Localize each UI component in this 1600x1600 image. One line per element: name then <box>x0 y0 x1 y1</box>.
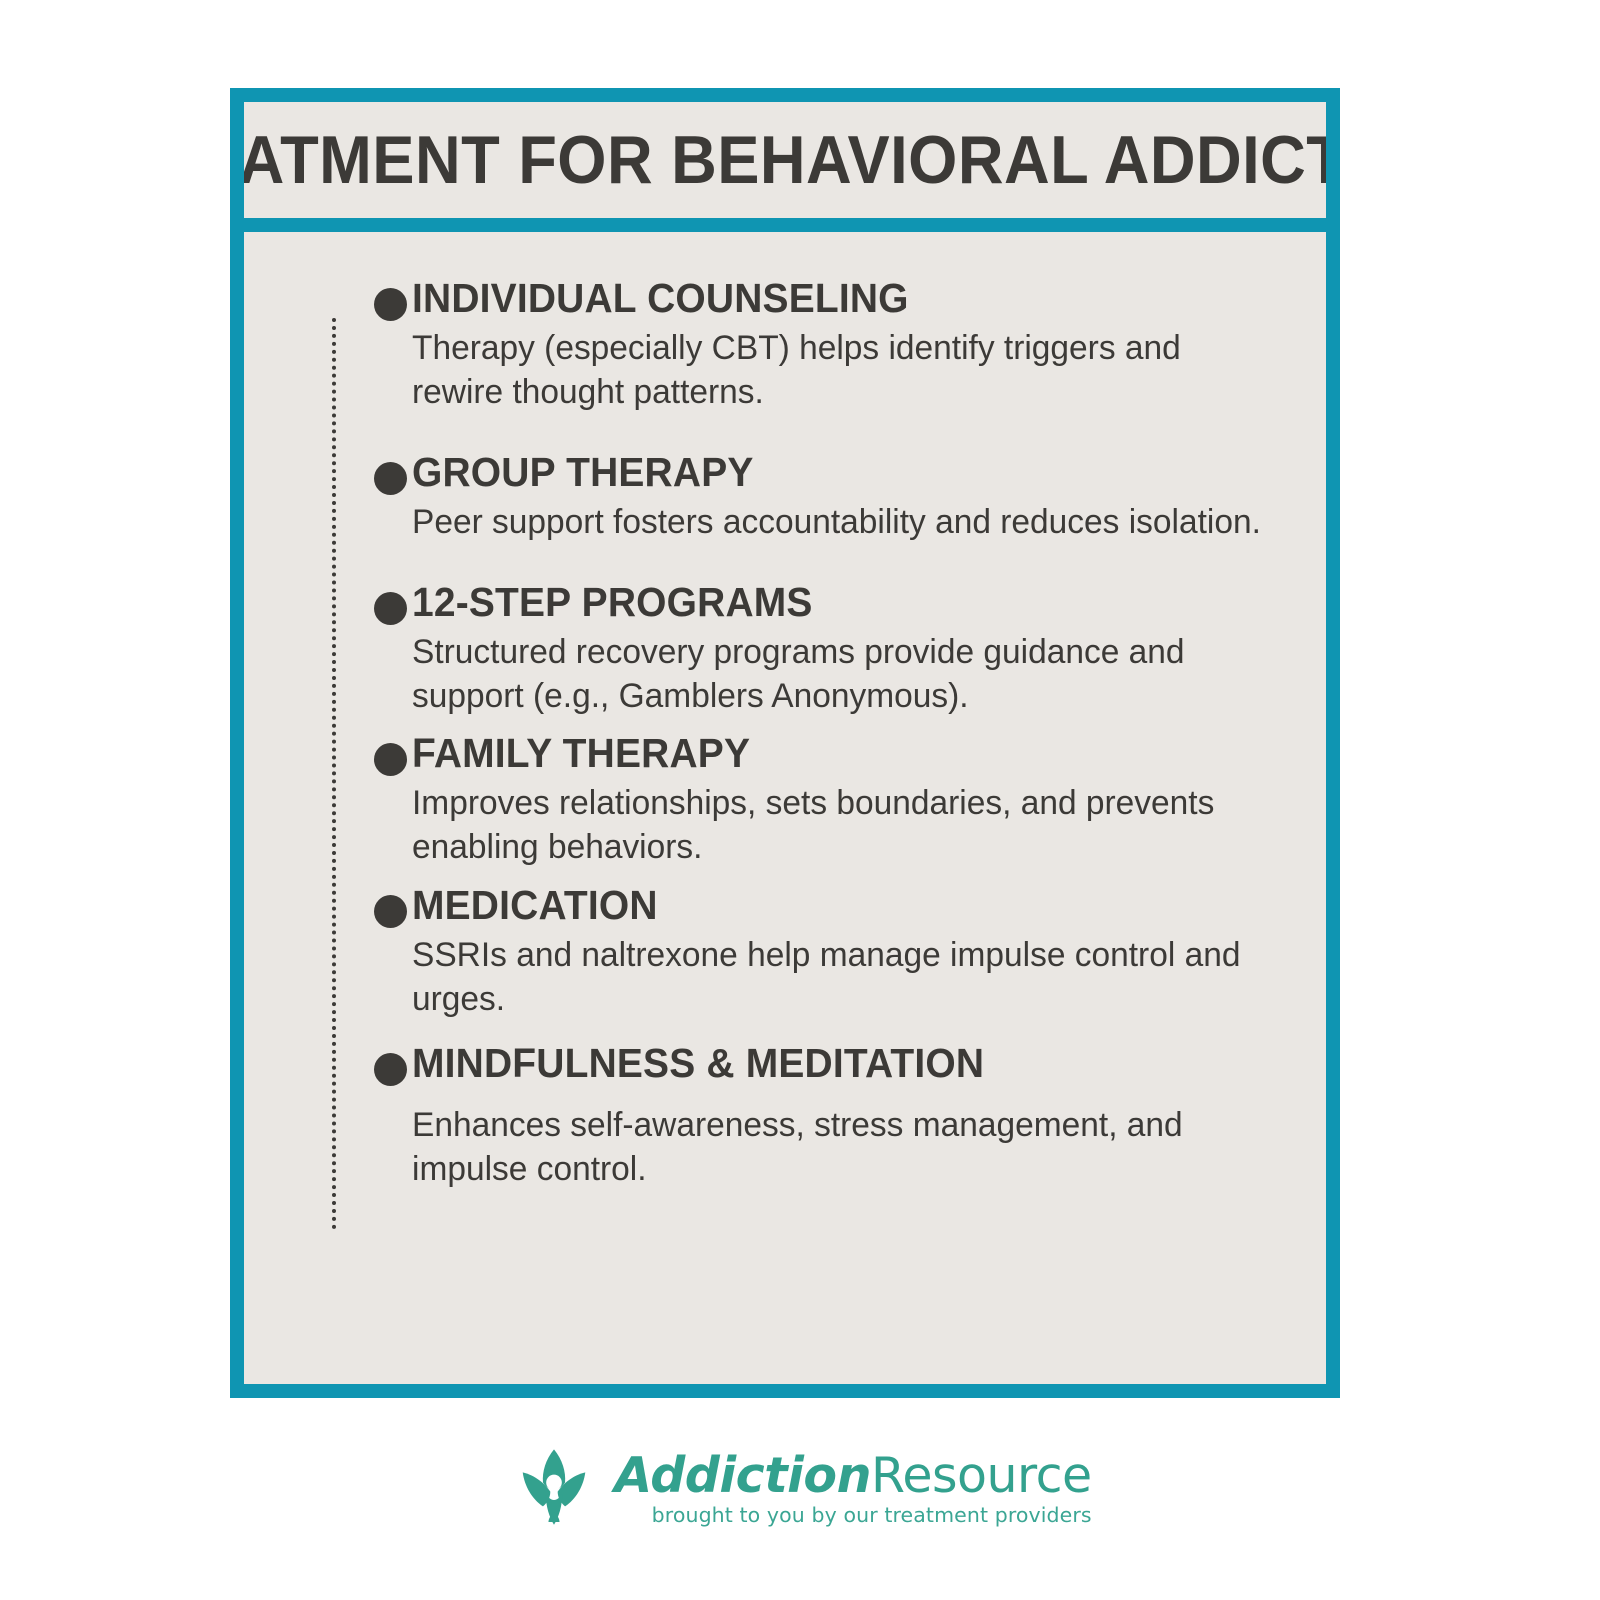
treatment-timeline: INDIVIDUAL COUNSELING Therapy (especiall… <box>244 232 1326 1384</box>
bullet-dot-icon <box>374 592 407 625</box>
list-item-description: Enhances self-awareness, stress manageme… <box>412 1103 1279 1191</box>
footer-branding: AddictionResource brought to you by our … <box>0 1442 1600 1534</box>
list-item-title: MINDFULNESS & MEDITATION <box>412 1041 1248 1087</box>
bullet-dot-icon <box>374 288 407 321</box>
list-item-description: Improves relationships, sets boundaries,… <box>412 781 1279 869</box>
bullet-dot-icon <box>374 743 407 776</box>
list-item: 12-STEP PROGRAMS Structured recovery pro… <box>302 580 1292 718</box>
list-item: MEDICATION SSRIs and naltrexone help man… <box>302 883 1292 1021</box>
list-item-description: SSRIs and naltrexone help manage impulse… <box>412 933 1279 1021</box>
page-title: TREATMENT FOR BEHAVIORAL ADDICTION <box>244 126 1326 194</box>
list-item: GROUP THERAPY Peer support fosters accou… <box>302 450 1292 544</box>
header-divider <box>244 218 1326 232</box>
list-item-title: GROUP THERAPY <box>412 450 1248 496</box>
list-item-title: INDIVIDUAL COUNSELING <box>412 276 1248 322</box>
list-item-title: 12-STEP PROGRAMS <box>412 580 1248 626</box>
logo-text-block: AddictionResource brought to you by our … <box>614 1450 1091 1526</box>
logo-tagline: brought to you by our treatment provider… <box>652 1505 1092 1526</box>
bullet-dot-icon <box>374 1053 407 1086</box>
list-item-description: Peer support fosters accountability and … <box>412 500 1279 544</box>
list-item: INDIVIDUAL COUNSELING Therapy (especiall… <box>302 276 1292 414</box>
list-item-description: Therapy (especially CBT) helps identify … <box>412 326 1279 414</box>
logo[interactable]: AddictionResource brought to you by our … <box>508 1442 1091 1534</box>
list-item-title: FAMILY THERAPY <box>412 731 1248 777</box>
list-item: FAMILY THERAPY Improves relationships, s… <box>302 731 1292 869</box>
header-banner: TREATMENT FOR BEHAVIORAL ADDICTION <box>244 102 1326 218</box>
logo-wordmark: AddictionResource <box>614 1450 1091 1501</box>
content-panel: INDIVIDUAL COUNSELING Therapy (especiall… <box>244 232 1326 1384</box>
infographic-card: TREATMENT FOR BEHAVIORAL ADDICTION INDIV… <box>230 88 1340 1398</box>
infographic-canvas: TREATMENT FOR BEHAVIORAL ADDICTION INDIV… <box>0 0 1600 1600</box>
list-item: MINDFULNESS & MEDITATION Enhances self-a… <box>302 1041 1292 1191</box>
logo-wordmark-light: Resource <box>871 1447 1092 1504</box>
list-item-title: MEDICATION <box>412 883 1248 929</box>
logo-wordmark-bold: Addiction <box>614 1447 871 1504</box>
lotus-person-icon <box>508 1442 600 1534</box>
bullet-dot-icon <box>374 462 407 495</box>
list-item-description: Structured recovery programs provide gui… <box>412 630 1279 718</box>
bullet-dot-icon <box>374 895 407 928</box>
